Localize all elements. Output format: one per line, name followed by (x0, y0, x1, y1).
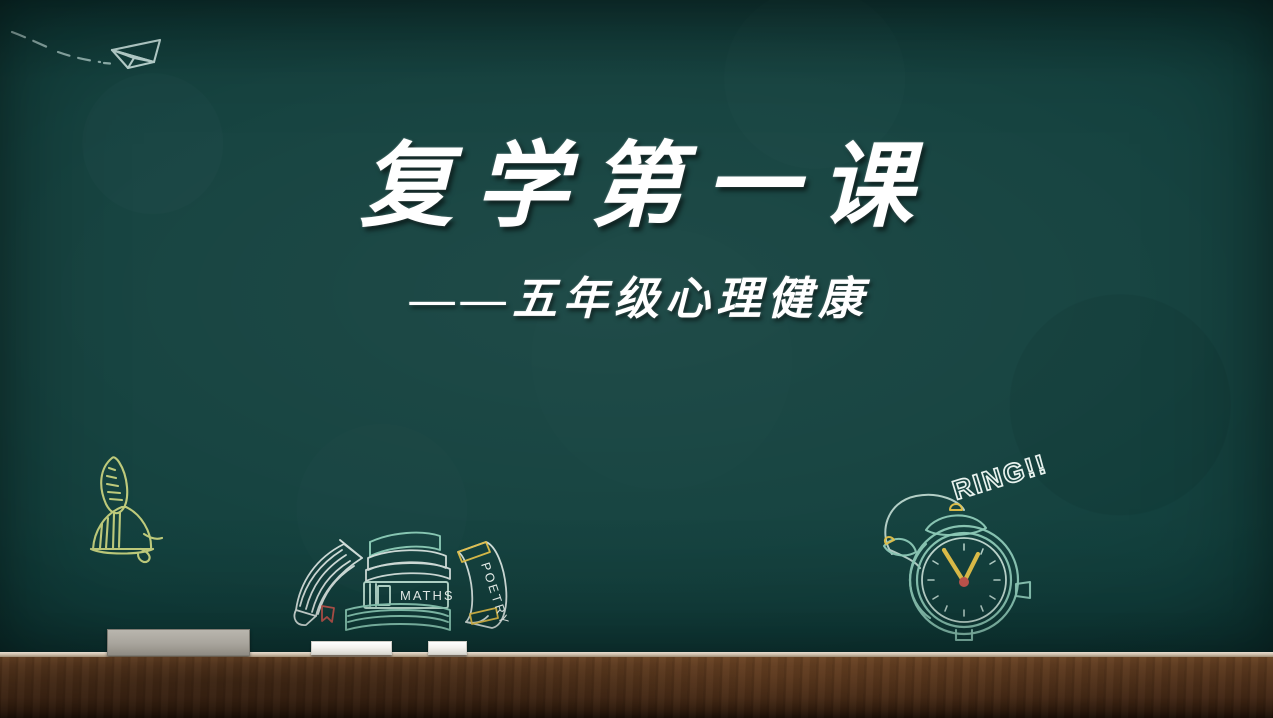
wood-grain-texture (0, 657, 1273, 718)
book-label-maths: MATHS (400, 588, 455, 603)
chalk-stick-2[interactable] (428, 641, 467, 655)
ring-text-label: RING!! (952, 462, 1062, 542)
slide-canvas: MATHS POETRY (0, 0, 1273, 718)
ring-text: RING!! (949, 449, 1051, 506)
main-title: 复学第一课 (0, 138, 1273, 238)
paper-airplane-icon (8, 14, 178, 84)
board-eraser[interactable] (107, 629, 250, 656)
sub-title: ——五年级心理健康 (0, 262, 1273, 327)
school-bell-icon (78, 452, 174, 566)
books-stack-icon: MATHS POETRY (282, 518, 518, 642)
chalk-stick-1[interactable] (311, 641, 392, 655)
book-label-poetry: POETRY (478, 561, 512, 628)
chalkboard: MATHS POETRY (0, 0, 1273, 653)
alarm-clock-icon (868, 458, 1054, 634)
wooden-ledge (0, 657, 1273, 718)
title-block: 复学第一课 (0, 138, 1273, 238)
